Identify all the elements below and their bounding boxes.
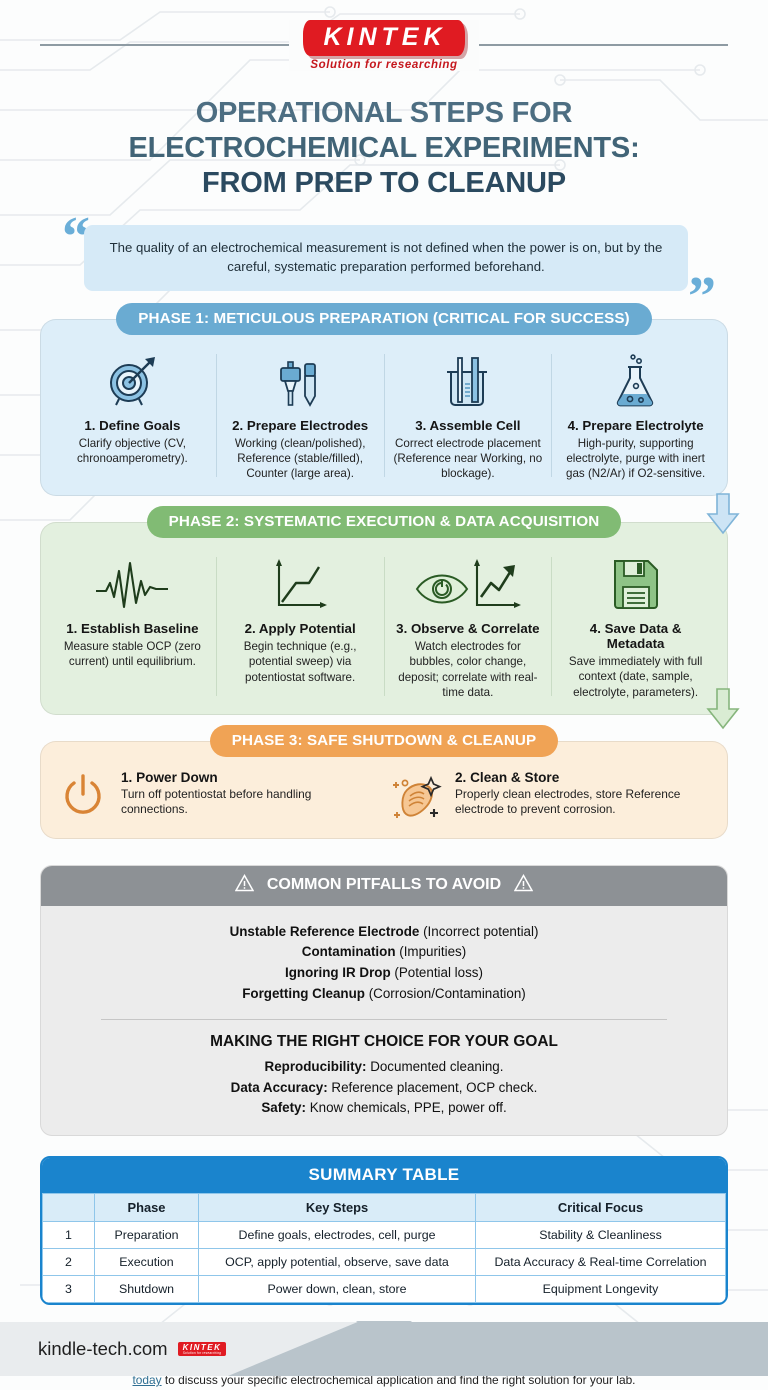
right-choice-title: MAKING THE RIGHT CHOICE FOR YOUR GOAL — [67, 1033, 701, 1051]
table-row: 1 Preparation Define goals, electrodes, … — [43, 1222, 726, 1249]
pitfall-item-term: Contamination — [302, 944, 396, 959]
pitfall-item-note: (Impurities) — [396, 944, 467, 959]
phase-2-card-4: 4. Save Data & Metadata Save immediately… — [552, 553, 719, 699]
table-cell: OCP, apply potential, observe, save data — [199, 1249, 476, 1276]
arrow-phase2-to-phase3 — [706, 688, 740, 735]
title-line-2: ELECTROCHEMICAL EXPERIMENTS: — [50, 131, 718, 166]
pitfall-item-term: Unstable Reference Electrode — [230, 924, 420, 939]
pitfall-item-note: (Potential loss) — [391, 965, 483, 980]
page-footer: kindle-tech.com KINTEK Solution for rese… — [0, 1322, 768, 1376]
phase-3-header-label: PHASE 3: SAFE SHUTDOWN & CLEANUP — [210, 725, 558, 757]
phase-1-card-3: 3. Assemble Cell Correct electrode place… — [385, 350, 552, 481]
table-header-cell — [43, 1194, 95, 1222]
brand-header: KINTEK Solution for researching — [0, 0, 768, 90]
phase-1-card-4-title: 4. Prepare Electrolyte — [559, 418, 712, 433]
phase-1-card-3-title: 3. Assemble Cell — [392, 418, 545, 433]
phase-3-header: PHASE 3: SAFE SHUTDOWN & CLEANUP — [41, 725, 727, 757]
arrow-phase1-to-phase2 — [706, 493, 740, 540]
choice-item-note: Reference placement, OCP check. — [328, 1080, 538, 1095]
phase-1-card-4: 4. Prepare Electrolyte High-purity, supp… — [552, 350, 719, 481]
footer-brand: kindle-tech.com KINTEK Solution for rese… — [38, 1322, 226, 1376]
kintek-logo: KINTEK Solution for researching — [289, 20, 478, 71]
choice-item-note: Know chemicals, PPE, power off. — [306, 1100, 507, 1115]
choice-item: Data Accuracy: Reference placement, OCP … — [67, 1078, 701, 1099]
table-cell: Data Accuracy & Real-time Correlation — [476, 1249, 726, 1276]
choice-item: Reproducibility: Documented cleaning. — [67, 1057, 701, 1078]
pitfalls-header-label: COMMON PITFALLS TO AVOID — [267, 876, 501, 894]
pitfall-item-term: Ignoring IR Drop — [285, 965, 391, 980]
phase-2-panel: PHASE 2: SYSTEMATIC EXECUTION & DATA ACQ… — [40, 522, 728, 714]
phase-1-card-1: 1. Define Goals Clarify objective (CV, c… — [49, 350, 216, 481]
table-row: 3 Shutdown Power down, clean, store Equi… — [43, 1276, 726, 1303]
summary-table-panel: SUMMARY TABLE Phase Key Steps Critical F… — [40, 1156, 728, 1305]
phase-3-item-1-desc: Turn off potentiostat before handling co… — [121, 787, 377, 818]
phase-1-panel: PHASE 1: METICULOUS PREPARATION (CRITICA… — [40, 319, 728, 496]
table-cell: Equipment Longevity — [476, 1276, 726, 1303]
phase-1-header: PHASE 1: METICULOUS PREPARATION (CRITICA… — [41, 303, 727, 335]
title-line-3: FROM PREP TO CLEANUP — [50, 166, 718, 201]
choice-item-term: Data Accuracy: — [231, 1080, 328, 1095]
summary-table-title: SUMMARY TABLE — [42, 1158, 726, 1193]
header-rule-right — [478, 44, 728, 46]
table-cell: Shutdown — [95, 1276, 199, 1303]
table-cell: 3 — [43, 1276, 95, 1303]
table-cell: Stability & Cleanliness — [476, 1222, 726, 1249]
pitfall-item: Unstable Reference Electrode (Incorrect … — [67, 922, 701, 943]
pitfall-item-term: Forgetting Cleanup — [242, 986, 365, 1001]
phase-1-card-1-title: 1. Define Goals — [56, 418, 209, 433]
infographic-page: KINTEK Solution for researching OPERATIO… — [0, 0, 768, 1376]
choice-item-term: Reproducibility: — [265, 1059, 367, 1074]
line-chart-icon — [224, 553, 377, 611]
table-cell: 1 — [43, 1222, 95, 1249]
phase-2-card-1-desc: Measure stable OCP (zero current) until … — [56, 639, 209, 669]
phase-2-header: PHASE 2: SYSTEMATIC EXECUTION & DATA ACQ… — [41, 506, 727, 538]
pitfalls-body: Unstable Reference Electrode (Incorrect … — [41, 906, 727, 1135]
pitfalls-header: COMMON PITFALLS TO AVOID — [41, 866, 727, 906]
phase-3-item-2: 2. Clean & Store Properly clean electrod… — [391, 770, 711, 822]
footer-logo-tagline: Solution for researching — [183, 1352, 222, 1355]
pitfall-item-note: (Corrosion/Contamination) — [365, 986, 526, 1001]
footer-slant-shape — [228, 1322, 768, 1376]
phase-3-item-1-title: 1. Power Down — [121, 770, 377, 785]
phase-2-card-2: 2. Apply Potential Begin technique (e.g.… — [217, 553, 384, 699]
flask-icon — [559, 350, 712, 408]
pitfall-item: Forgetting Cleanup (Corrosion/Contaminat… — [67, 984, 701, 1005]
phase-2-card-1-title: 1. Establish Baseline — [56, 621, 209, 636]
phase-1-card-2-title: 2. Prepare Electrodes — [224, 418, 377, 433]
footer-domain: kindle-tech.com — [38, 1338, 168, 1360]
table-cell: Power down, clean, store — [199, 1276, 476, 1303]
cleaning-hand-icon — [391, 770, 443, 822]
table-header-row: Phase Key Steps Critical Focus — [43, 1194, 726, 1222]
phase-3-item-1: 1. Power Down Turn off potentiostat befo… — [57, 770, 377, 822]
table-cell: Preparation — [95, 1222, 199, 1249]
pitfall-item: Contamination (Impurities) — [67, 942, 701, 963]
phase-3-item-2-title: 2. Clean & Store — [455, 770, 711, 785]
phase-2-card-2-title: 2. Apply Potential — [224, 621, 377, 636]
quote-text: The quality of an electrochemical measur… — [84, 225, 688, 290]
phase-3-items: 1. Power Down Turn off potentiostat befo… — [57, 770, 711, 822]
phase-2-cards: 1. Establish Baseline Measure stable OCP… — [49, 553, 719, 699]
phase-1-card-4-desc: High-purity, supporting electrolyte, pur… — [559, 436, 712, 481]
eye-and-trend-icon — [392, 553, 545, 611]
phase-2-card-3-title: 3. Observe & Correlate — [392, 621, 545, 636]
pitfall-item: Ignoring IR Drop (Potential loss) — [67, 963, 701, 984]
warning-triangle-icon-right — [514, 874, 533, 897]
waveform-icon — [56, 553, 209, 611]
title-line-1: OPERATIONAL STEPS FOR — [50, 96, 718, 131]
electrodes-icon — [224, 350, 377, 408]
phase-1-card-1-desc: Clarify objective (CV, chronoamperometry… — [56, 436, 209, 466]
pull-quote: “ The quality of an electrochemical meas… — [62, 217, 710, 295]
target-icon — [56, 350, 209, 408]
choice-item-note: Documented cleaning. — [366, 1059, 503, 1074]
phase-2-card-3-desc: Watch electrodes for bubbles, color chan… — [392, 639, 545, 699]
phase-2-card-4-title: 4. Save Data & Metadata — [559, 621, 712, 651]
phase-2-header-label: PHASE 2: SYSTEMATIC EXECUTION & DATA ACQ… — [147, 506, 622, 538]
table-header-cell: Key Steps — [199, 1194, 476, 1222]
phase-1-header-label: PHASE 1: METICULOUS PREPARATION (CRITICA… — [116, 303, 651, 335]
power-button-icon — [57, 770, 109, 822]
floppy-disk-save-icon — [559, 553, 712, 611]
summary-table: Phase Key Steps Critical Focus 1 Prepara… — [42, 1193, 726, 1303]
kintek-logo-tagline: Solution for researching — [303, 59, 464, 71]
phase-2-card-3: 3. Observe & Correlate Watch electrodes … — [385, 553, 552, 699]
header-rule-left — [40, 44, 290, 46]
common-pitfalls-panel: COMMON PITFALLS TO AVOID Unstable Refere… — [40, 865, 728, 1136]
phase-3-panel: PHASE 3: SAFE SHUTDOWN & CLEANUP 1. Powe… — [40, 741, 728, 839]
footer-kintek-logo: KINTEK Solution for researching — [178, 1342, 227, 1357]
choice-item: Safety: Know chemicals, PPE, power off. — [67, 1098, 701, 1119]
phase-1-card-2-desc: Working (clean/polished), Reference (sta… — [224, 436, 377, 481]
table-header-cell: Critical Focus — [476, 1194, 726, 1222]
table-cell: Define goals, electrodes, cell, purge — [199, 1222, 476, 1249]
electrochemical-cell-icon — [392, 350, 545, 408]
table-header-cell: Phase — [95, 1194, 199, 1222]
phase-1-card-3-desc: Correct electrode placement (Reference n… — [392, 436, 545, 481]
pitfalls-divider — [101, 1019, 667, 1020]
pitfall-item-note: (Incorrect potential) — [419, 924, 538, 939]
phase-2-card-2-desc: Begin technique (e.g., potential sweep) … — [224, 639, 377, 684]
phase-1-card-2: 2. Prepare Electrodes Working (clean/pol… — [217, 350, 384, 481]
table-cell: Execution — [95, 1249, 199, 1276]
table-cell: 2 — [43, 1249, 95, 1276]
warning-triangle-icon-left — [235, 874, 254, 897]
choice-item-term: Safety: — [261, 1100, 306, 1115]
phase-3-item-2-desc: Properly clean electrodes, store Referen… — [455, 787, 711, 818]
phase-1-cards: 1. Define Goals Clarify objective (CV, c… — [49, 350, 719, 481]
table-row: 2 Execution OCP, apply potential, observ… — [43, 1249, 726, 1276]
phase-2-card-4-desc: Save immediately with full context (date… — [559, 654, 712, 699]
kintek-logo-text: KINTEK — [303, 20, 464, 56]
page-title: OPERATIONAL STEPS FOR ELECTROCHEMICAL EX… — [0, 90, 768, 201]
phase-2-card-1: 1. Establish Baseline Measure stable OCP… — [49, 553, 216, 699]
